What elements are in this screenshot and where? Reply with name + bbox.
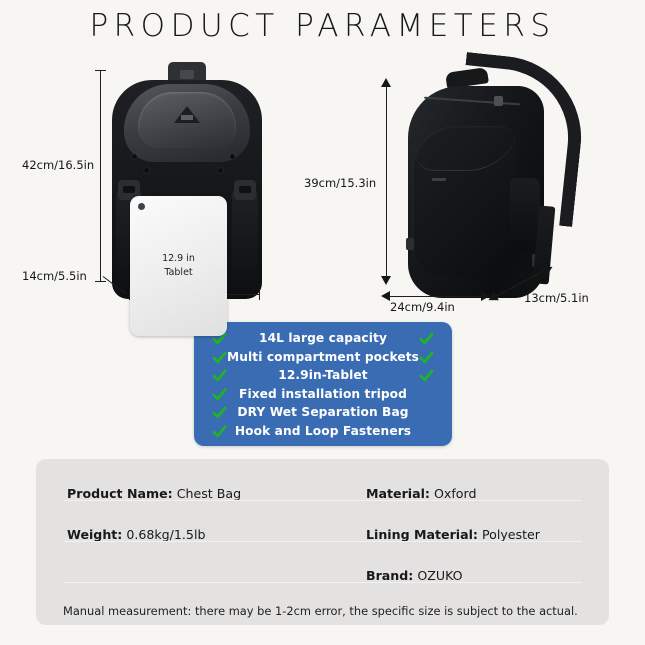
product-illustration-stage: 12.9 in Tablet 42cm/16.5in 14cm/5.5in 24… [0,48,645,313]
feature-item: Multi compartment pockets [194,348,452,367]
brand-triangle-logo-icon [174,106,200,123]
tablet-type-line: Tablet [130,266,227,280]
table-cell-key: Weight: [67,527,122,542]
table-cell-key: Material: [366,486,430,501]
right-width-line [389,296,482,297]
check-icon [419,368,434,383]
left-height-label: 42cm/16.5in [22,158,94,172]
left-height-line [100,70,101,282]
table-divider [63,582,582,583]
bag-rivet [230,154,235,159]
feature-item-label: Fixed installation tripod [239,387,407,401]
left-depth-label: 14cm/5.5in [22,269,87,283]
measurement-note: Manual measurement: there may be 1-2cm e… [63,604,578,618]
right-height-label: 39cm/15.3in [304,176,376,190]
table-cell-value: OZUKO [413,568,462,583]
table-cell: Brand: OZUKO [366,568,463,583]
table-cell-value: 0.68kg/1.5lb [122,527,205,542]
left-width-cap-right [259,289,260,300]
table-cell: Lining Material: Polyester [366,527,540,542]
page-title: PRODUCT PARAMETERS [0,8,645,44]
right-depth-label: 13cm/5.1in [524,291,589,305]
bag-rivet [144,168,149,173]
check-icon [212,405,227,420]
check-icon [212,424,227,439]
check-icon [419,350,434,365]
table-cell: Material: Oxford [366,486,476,501]
table-row: Product Name: Chest BagMaterial: Oxford [36,473,609,514]
bag-rivet [132,154,137,159]
tablet-label: 12.9 in Tablet [130,252,227,280]
bag-side-panel-right [232,186,258,296]
check-icon [212,368,227,383]
feature-item-label: Multi compartment pockets [227,350,419,364]
right-width-label: 24cm/9.4in [390,300,455,314]
check-icon [212,387,227,402]
table-cell-key: Product Name: [67,486,173,501]
right-height-arrow-bottom [381,276,391,285]
check-icon [419,331,434,346]
product-parameters-page: PRODUCT PARAMETERS 12.9 in Tablet [0,0,645,645]
right-height-line [386,84,387,280]
tablet-overlay-image: 12.9 in Tablet [130,196,227,336]
feature-item: Fixed installation tripod [194,385,452,404]
table-cell-key: Lining Material: [366,527,478,542]
tablet-size-line: 12.9 in [130,252,227,266]
feature-item: DRY Wet Separation Bag [194,403,452,422]
feature-item: 12.9in-Tablet [194,366,452,385]
table-row: Brand: OZUKO [36,555,609,596]
bag-brand-tag [432,178,446,181]
table-cell: Product Name: Chest Bag [67,486,241,501]
feature-item: 14L large capacity [194,329,452,348]
tablet-camera-icon [138,203,145,210]
feature-item-label: DRY Wet Separation Bag [237,405,408,419]
check-icon [212,350,227,365]
table-cell-value: Chest Bag [173,486,241,501]
bag-clip-left [406,238,414,250]
specification-table: Product Name: Chest BagMaterial: OxfordW… [36,459,609,625]
table-row: Weight: 0.68kg/1.5lbLining Material: Pol… [36,514,609,555]
feature-item: Hook and Loop Fasteners [194,422,452,441]
table-cell-value: Oxford [430,486,476,501]
table-divider [63,541,582,542]
bag-rivet [218,168,223,173]
feature-item-label: 14L large capacity [259,331,387,345]
usb-port-icon [494,96,503,106]
feature-item-label: Hook and Loop Fasteners [235,424,411,438]
table-divider [63,500,582,501]
feature-highlight-box: 14L large capacityMulti compartment pock… [194,322,452,446]
table-cell: Weight: 0.68kg/1.5lb [67,527,205,542]
bag-buckle-right [234,180,256,200]
feature-list: 14L large capacityMulti compartment pock… [194,329,452,440]
feature-item-label: 12.9in-Tablet [278,368,367,382]
left-height-cap-bottom [95,281,106,282]
table-cell-key: Brand: [366,568,413,583]
table-cell-value: Polyester [478,527,540,542]
